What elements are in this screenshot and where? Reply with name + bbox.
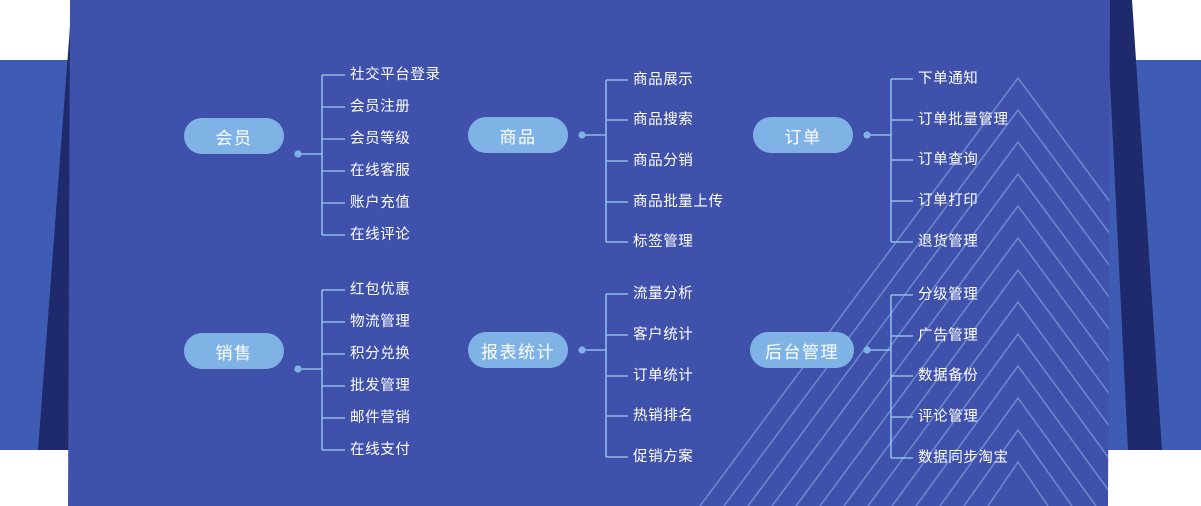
leaf-order-3[interactable]: 订单打印 xyxy=(918,194,978,209)
leaf-product-0[interactable]: 商品展示 xyxy=(633,73,693,88)
node-pill-label: 商品 xyxy=(500,123,537,148)
node-pill-label: 销售 xyxy=(216,339,253,364)
leaf-sales-4[interactable]: 邮件营销 xyxy=(350,411,410,426)
leaf-sales-3[interactable]: 批发管理 xyxy=(350,379,410,394)
node-pill-admin[interactable]: 后台管理 xyxy=(750,332,854,368)
leaf-order-4[interactable]: 退货管理 xyxy=(918,235,978,250)
leaf-reports-1[interactable]: 客户统计 xyxy=(633,328,693,343)
leaf-admin-0[interactable]: 分级管理 xyxy=(918,288,978,303)
leaf-sales-0[interactable]: 红包优惠 xyxy=(350,283,410,298)
leaf-reports-4[interactable]: 促销方案 xyxy=(633,450,693,465)
leaf-admin-2[interactable]: 数据备份 xyxy=(918,369,978,384)
leaf-member-5[interactable]: 在线评论 xyxy=(350,228,410,243)
leaf-admin-3[interactable]: 评论管理 xyxy=(918,410,978,425)
node-pill-label: 会员 xyxy=(216,124,253,149)
diagram-canvas: 会员 社交平台登录 会员注册 会员等级 在线客服 账户充值 在线评论 商品 商品… xyxy=(0,0,1201,506)
leaf-order-0[interactable]: 下单通知 xyxy=(918,72,978,87)
leaf-reports-3[interactable]: 热销排名 xyxy=(633,409,693,424)
node-pill-label: 报表统计 xyxy=(481,338,555,363)
leaf-sales-5[interactable]: 在线支付 xyxy=(350,443,410,458)
leaf-product-3[interactable]: 商品批量上传 xyxy=(633,195,724,210)
leaf-order-1[interactable]: 订单批量管理 xyxy=(918,113,1009,128)
leaf-product-4[interactable]: 标签管理 xyxy=(633,235,693,250)
leaf-order-2[interactable]: 订单查询 xyxy=(918,153,978,168)
node-pill-product[interactable]: 商品 xyxy=(468,117,568,153)
leaf-admin-4[interactable]: 数据同步淘宝 xyxy=(918,451,1009,466)
node-pill-label: 后台管理 xyxy=(765,338,839,363)
leaf-reports-0[interactable]: 流量分析 xyxy=(633,287,693,302)
leaf-product-2[interactable]: 商品分销 xyxy=(633,154,693,169)
leaf-reports-2[interactable]: 订单统计 xyxy=(633,369,693,384)
leaf-sales-1[interactable]: 物流管理 xyxy=(350,315,410,330)
leaf-sales-2[interactable]: 积分兑换 xyxy=(350,347,410,362)
leaf-product-1[interactable]: 商品搜索 xyxy=(633,113,693,128)
leaf-member-2[interactable]: 会员等级 xyxy=(350,132,410,147)
leaf-admin-1[interactable]: 广告管理 xyxy=(918,329,978,344)
leaf-member-0[interactable]: 社交平台登录 xyxy=(350,68,441,83)
node-pill-member[interactable]: 会员 xyxy=(184,118,284,154)
node-pill-reports[interactable]: 报表统计 xyxy=(468,332,568,368)
leaf-member-1[interactable]: 会员注册 xyxy=(350,100,410,115)
leaf-member-4[interactable]: 账户充值 xyxy=(350,196,410,211)
node-pill-order[interactable]: 订单 xyxy=(753,117,853,153)
node-pill-sales[interactable]: 销售 xyxy=(184,333,284,369)
diagram-nodes: 会员 社交平台登录 会员注册 会员等级 在线客服 账户充值 在线评论 商品 商品… xyxy=(0,0,1201,506)
leaf-member-3[interactable]: 在线客服 xyxy=(350,164,410,179)
node-pill-label: 订单 xyxy=(785,123,822,148)
